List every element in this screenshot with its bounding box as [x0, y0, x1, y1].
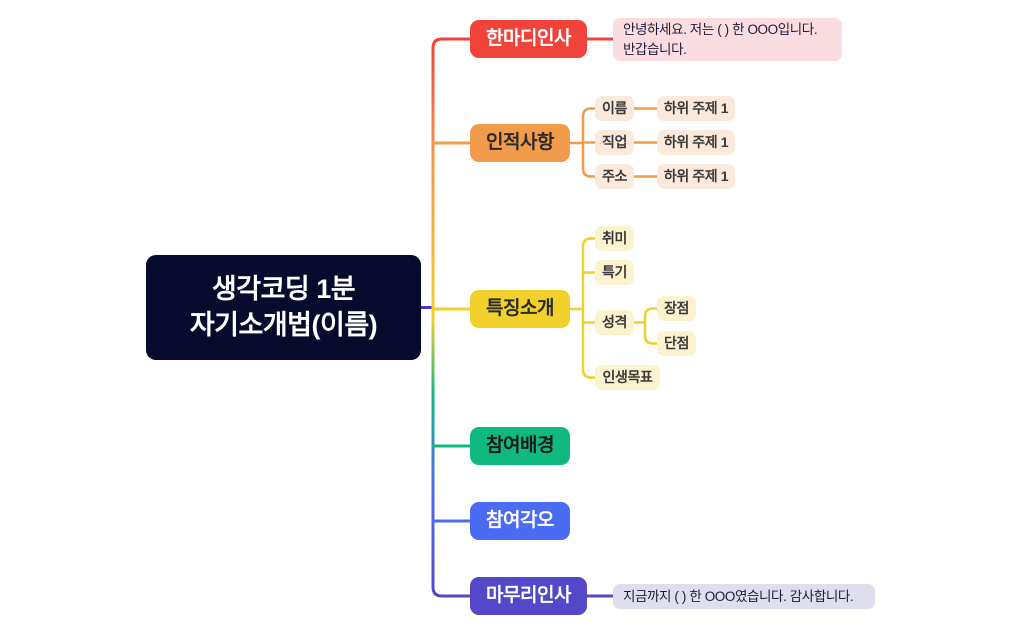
hub-spine-branch-traits — [583, 239, 591, 378]
node-branch-personal-child-2-sub-0[interactable]: 하위 주제 1 — [657, 164, 735, 189]
node-branch-personal-child-1[interactable]: 직업 — [595, 130, 634, 155]
node-branch-greeting[interactable]: 한마디인사 — [470, 20, 587, 58]
node-branch-personal[interactable]: 인적사항 — [470, 124, 570, 162]
node-branch-background[interactable]: 참여배경 — [470, 427, 570, 465]
node-branch-traits[interactable]: 특징소개 — [470, 290, 570, 328]
note-branch-greeting: 안녕하세요. 저는 ( ) 한 OOO입니다. 반갑습니다. — [613, 18, 842, 61]
node-branch-personal-child-2[interactable]: 주소 — [595, 164, 634, 189]
node-branch-traits-child-1[interactable]: 특기 — [595, 260, 634, 285]
hub-spine-branch-personal — [583, 109, 591, 177]
node-branch-traits-child-0[interactable]: 취미 — [595, 226, 634, 251]
main-trunk — [433, 39, 442, 596]
node-branch-traits-child-2-sub-1[interactable]: 단점 — [657, 331, 696, 356]
node-branch-personal-child-1-sub-0[interactable]: 하위 주제 1 — [657, 130, 735, 155]
mindmap-canvas: 생각코딩 1분 자기소개법(이름)한마디인사안녕하세요. 저는 ( ) 한 OO… — [0, 0, 1023, 633]
node-branch-resolve[interactable]: 참여각오 — [470, 502, 570, 540]
root-node[interactable]: 생각코딩 1분 자기소개법(이름) — [146, 255, 421, 360]
node-branch-closing[interactable]: 마무리인사 — [470, 577, 587, 615]
node-branch-traits-child-2-sub-0[interactable]: 장점 — [657, 296, 696, 321]
node-branch-personal-child-0[interactable]: 이름 — [595, 96, 634, 121]
grandchild-hub-spine — [645, 309, 653, 344]
node-branch-traits-child-3[interactable]: 인생목표 — [595, 365, 660, 390]
node-branch-traits-child-2[interactable]: 성격 — [595, 310, 634, 335]
note-branch-closing: 지금까지 ( ) 한 OOO였습니다. 감사합니다. — [613, 584, 875, 609]
node-branch-personal-child-0-sub-0[interactable]: 하위 주제 1 — [657, 96, 735, 121]
